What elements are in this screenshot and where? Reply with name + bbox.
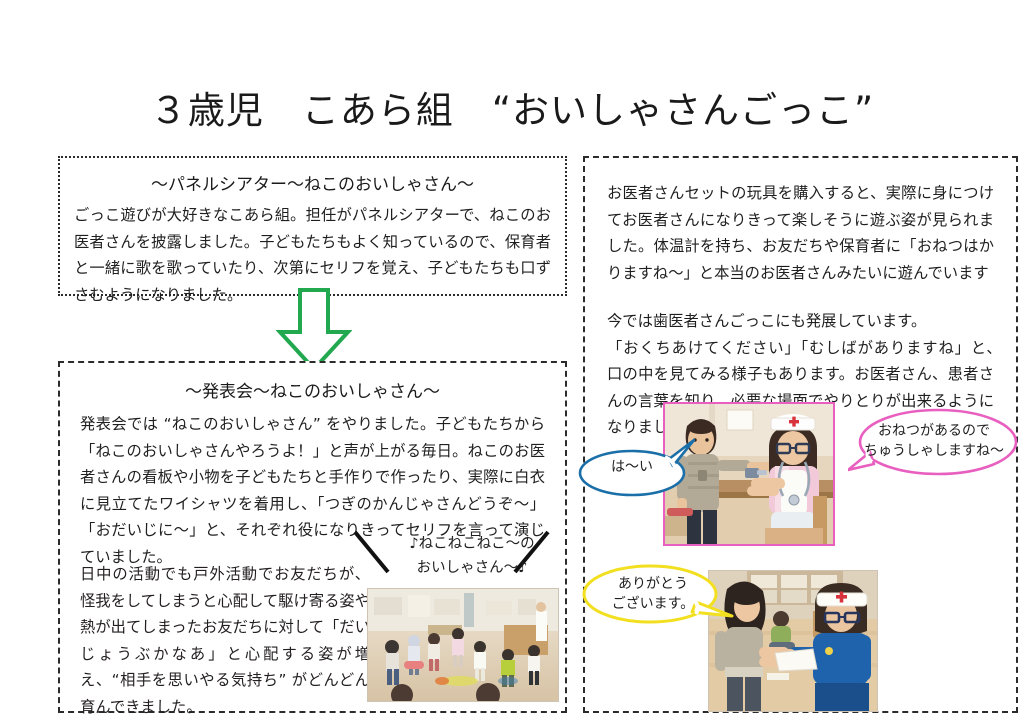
bubble-injection: おねつがあるので ちゅうしゃしますね～ bbox=[848, 404, 1020, 484]
recital-heading: ～発表会～ねこのおいしゃさん～ bbox=[60, 381, 565, 403]
recital-body-secondary: 日中の活動でも戸外活動でお友だちが、怪我をしてしまうと心配して駆け寄る姿や熱が出… bbox=[80, 561, 370, 720]
bubble-hai: は～い bbox=[577, 437, 697, 499]
document-page: ３歳児 こあら組 “おいしゃさんごっこ” ～パネルシアター～ねこのおいしゃさん～… bbox=[0, 0, 1024, 724]
song-annotation-text: ♪ねこねこねこ～の おいしゃさん～♪ bbox=[392, 532, 552, 580]
photo-recital-hall bbox=[367, 588, 559, 702]
panel-theater-box: ～パネルシアター～ねこのおいしゃさん～ ごっこ遊びが大好きなこあら組。担任がパネ… bbox=[58, 156, 567, 296]
song-annotation: ♪ねこねこねこ～の おいしゃさん～♪ bbox=[352, 530, 552, 586]
page-title: ３歳児 こあら組 “おいしゃさんごっこ” bbox=[0, 88, 1024, 134]
panel-theater-heading: ～パネルシアター～ねこのおいしゃさん～ bbox=[60, 174, 565, 196]
bubble-thanks-text: ありがとう ございます。 bbox=[588, 574, 718, 614]
bubble-injection-text: おねつがあるので ちゅうしゃしますね～ bbox=[852, 421, 1016, 461]
arrow-down-icon bbox=[276, 288, 352, 372]
doctor-set-body-1: お医者さんセットの玩具を購入すると、実際に身につけてお医者さんになりきって楽しそ… bbox=[607, 180, 994, 286]
bubble-hai-text: は～い bbox=[577, 457, 687, 477]
bubble-thanks: ありがとう ございます。 bbox=[580, 558, 740, 638]
